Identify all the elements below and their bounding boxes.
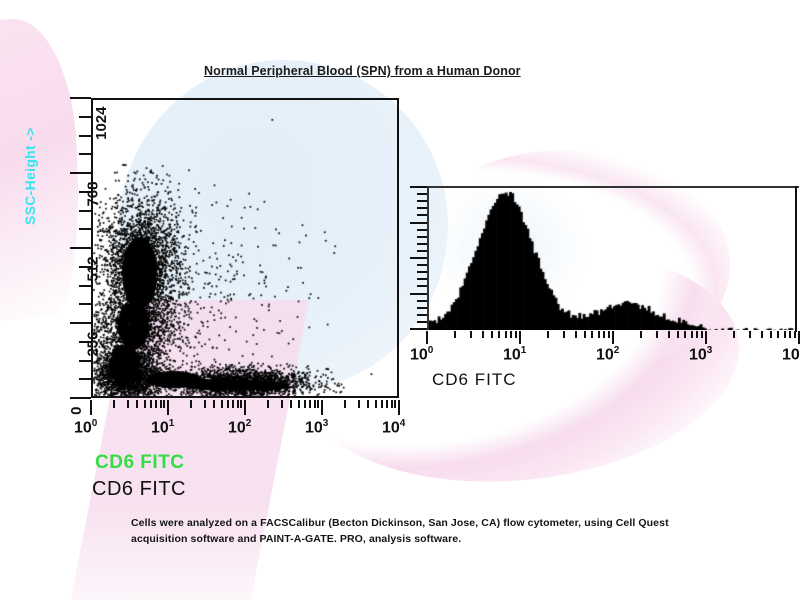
histogram-x-tick-label: 101	[503, 345, 526, 364]
scatter-x-axis-label-green: CD6 FITC	[95, 452, 185, 474]
scatter-plot	[91, 98, 399, 398]
histogram-x-tick-major	[519, 331, 521, 344]
histogram-x-tick-minor	[684, 331, 686, 338]
histogram-x-tick-minor	[691, 331, 693, 338]
scatter-x-tick-minor	[232, 400, 234, 408]
scatter-x-tick-label: 102	[228, 418, 251, 437]
scatter-y-tick-minor	[79, 210, 91, 212]
scatter-y-tick-major	[70, 97, 91, 99]
scatter-x-tick-minor	[136, 400, 138, 408]
histogram-x-tick-minor	[547, 331, 549, 338]
scatter-x-tick-minor	[160, 400, 162, 408]
caption-line-1: Cells were analyzed on a FACSCalibur (Be…	[131, 516, 751, 532]
histogram-x-tick-minor	[749, 331, 751, 338]
histogram-x-tick-minor	[733, 331, 735, 338]
scatter-x-tick-minor	[237, 400, 239, 408]
histogram-x-tick-minor	[591, 331, 593, 338]
histogram-x-tick-minor	[668, 331, 670, 338]
scatter-x-tick-minor	[144, 400, 146, 408]
scatter-x-tick-minor	[381, 400, 383, 408]
histogram-x-axis-label: CD6 FITC	[432, 370, 517, 390]
scatter-y-tick-minor	[79, 153, 91, 155]
scatter-x-tick-minor	[150, 400, 152, 408]
scatter-x-tick-minor	[309, 400, 311, 408]
histogram-x-tick-minor	[640, 331, 642, 338]
scatter-x-tick-label: 104	[382, 418, 405, 437]
histogram-x-tick-minor	[482, 331, 484, 338]
caption-line-2: acquisition software and PAINT-A-GATE. P…	[131, 532, 751, 548]
scatter-x-tick-major	[398, 400, 400, 415]
histogram-x-tick-minor	[491, 331, 493, 338]
scatter-x-tick-minor	[281, 400, 283, 408]
histogram-x-tick-minor	[784, 331, 786, 338]
scatter-x-tick-major	[321, 400, 323, 415]
scatter-x-tick-minor	[394, 400, 396, 408]
histogram-x-tick-minor	[794, 331, 796, 338]
scatter-x-tick-minor	[227, 400, 229, 408]
scatter-x-axis-label-black: CD6 FITC	[92, 478, 186, 501]
histogram-x-tick-minor	[470, 331, 472, 338]
scatter-y-tick-minor	[79, 303, 91, 305]
scatter-x-tick-minor	[267, 400, 269, 408]
scatter-x-tick-minor	[113, 400, 115, 408]
scatter-x-tick-minor	[375, 400, 377, 408]
figure-caption: Cells were analyzed on a FACSCalibur (Be…	[131, 516, 751, 548]
histogram-x-tick-minor	[563, 331, 565, 338]
scatter-x-tick-minor	[367, 400, 369, 408]
figure-root: Normal Peripheral Blood (SPN) from a Hum…	[0, 0, 800, 600]
histogram-x-tick-label: 102	[596, 345, 619, 364]
scatter-x-tick-label: 103	[305, 418, 328, 437]
histogram-plot	[427, 186, 799, 330]
scatter-y-tick-minor	[79, 116, 91, 118]
histogram-x-tick-major	[426, 331, 428, 344]
histogram-x-tick-major	[705, 331, 707, 344]
histogram-x-tick-minor	[701, 331, 703, 338]
scatter-x-tick-minor	[190, 400, 192, 408]
scatter-x-tick-major	[167, 400, 169, 415]
scatter-x-tick-minor	[391, 400, 393, 408]
histogram-x-tick-minor	[603, 331, 605, 338]
scatter-x-tick-minor	[204, 400, 206, 408]
histogram-x-tick-minor	[454, 331, 456, 338]
histogram-x-axis-ticks	[427, 331, 799, 345]
scatter-y-tick-minor	[79, 360, 91, 362]
scatter-x-tick-major	[244, 400, 246, 415]
scatter-x-tick-minor	[240, 400, 242, 408]
scatter-x-axis-ticks	[91, 400, 399, 416]
scatter-x-tick-minor	[290, 400, 292, 408]
scatter-x-tick-minor	[314, 400, 316, 408]
scatter-x-tick-minor	[213, 400, 215, 408]
scatter-x-tick-minor	[163, 400, 165, 408]
scatter-y-tick-major	[70, 322, 91, 324]
scatter-x-tick-minor	[304, 400, 306, 408]
scatter-x-tick-major	[90, 400, 92, 415]
scatter-y-tick-major	[70, 397, 91, 399]
scatter-x-tick-minor	[344, 400, 346, 408]
scatter-plot-canvas	[93, 100, 397, 396]
scatter-x-tick-minor	[317, 400, 319, 408]
scatter-y-tick-major	[70, 172, 91, 174]
scatter-x-tick-minor	[298, 400, 300, 408]
scatter-x-tick-label: 100	[74, 418, 97, 437]
scatter-y-tick-major	[70, 247, 91, 249]
histogram-x-tick-minor	[677, 331, 679, 338]
histogram-x-tick-minor	[498, 331, 500, 338]
histogram-x-tick-label: 104	[782, 345, 800, 364]
histogram-x-tick-minor	[515, 331, 517, 338]
histogram-x-tick-minor	[656, 331, 658, 338]
histogram-x-tick-minor	[608, 331, 610, 338]
histogram-x-tick-minor	[761, 331, 763, 338]
scatter-x-tick-minor	[155, 400, 157, 408]
scatter-x-tick-label: 101	[151, 418, 174, 437]
scatter-y-tick-minor	[79, 378, 91, 380]
histogram-x-tick-label: 100	[410, 345, 433, 364]
scatter-x-tick-minor	[127, 400, 129, 408]
scatter-x-tick-minor	[386, 400, 388, 408]
figure-title: Normal Peripheral Blood (SPN) from a Hum…	[204, 64, 521, 78]
scatter-x-tick-minor	[358, 400, 360, 408]
histogram-x-tick-minor	[789, 331, 791, 338]
histogram-canvas	[429, 188, 797, 330]
histogram-x-tick-major	[612, 331, 614, 344]
histogram-right-border	[795, 186, 797, 332]
histogram-x-tick-label: 103	[689, 345, 712, 364]
histogram-x-tick-minor	[777, 331, 779, 338]
scatter-y-tick-minor	[79, 285, 91, 287]
histogram-x-tick-minor	[575, 331, 577, 338]
scatter-y-tick-minor	[79, 228, 91, 230]
histogram-x-tick-minor	[505, 331, 507, 338]
histogram-x-tick-minor	[510, 331, 512, 338]
scatter-y-tick-minor	[79, 135, 91, 137]
histogram-x-tick-minor	[584, 331, 586, 338]
scatter-y-axis-label: SSC-Height ->	[22, 127, 38, 225]
histogram-x-tick-minor	[696, 331, 698, 338]
histogram-x-tick-minor	[598, 331, 600, 338]
scatter-x-tick-minor	[221, 400, 223, 408]
histogram-x-tick-minor	[770, 331, 772, 338]
scatter-y-tick-label: 0	[68, 407, 85, 415]
